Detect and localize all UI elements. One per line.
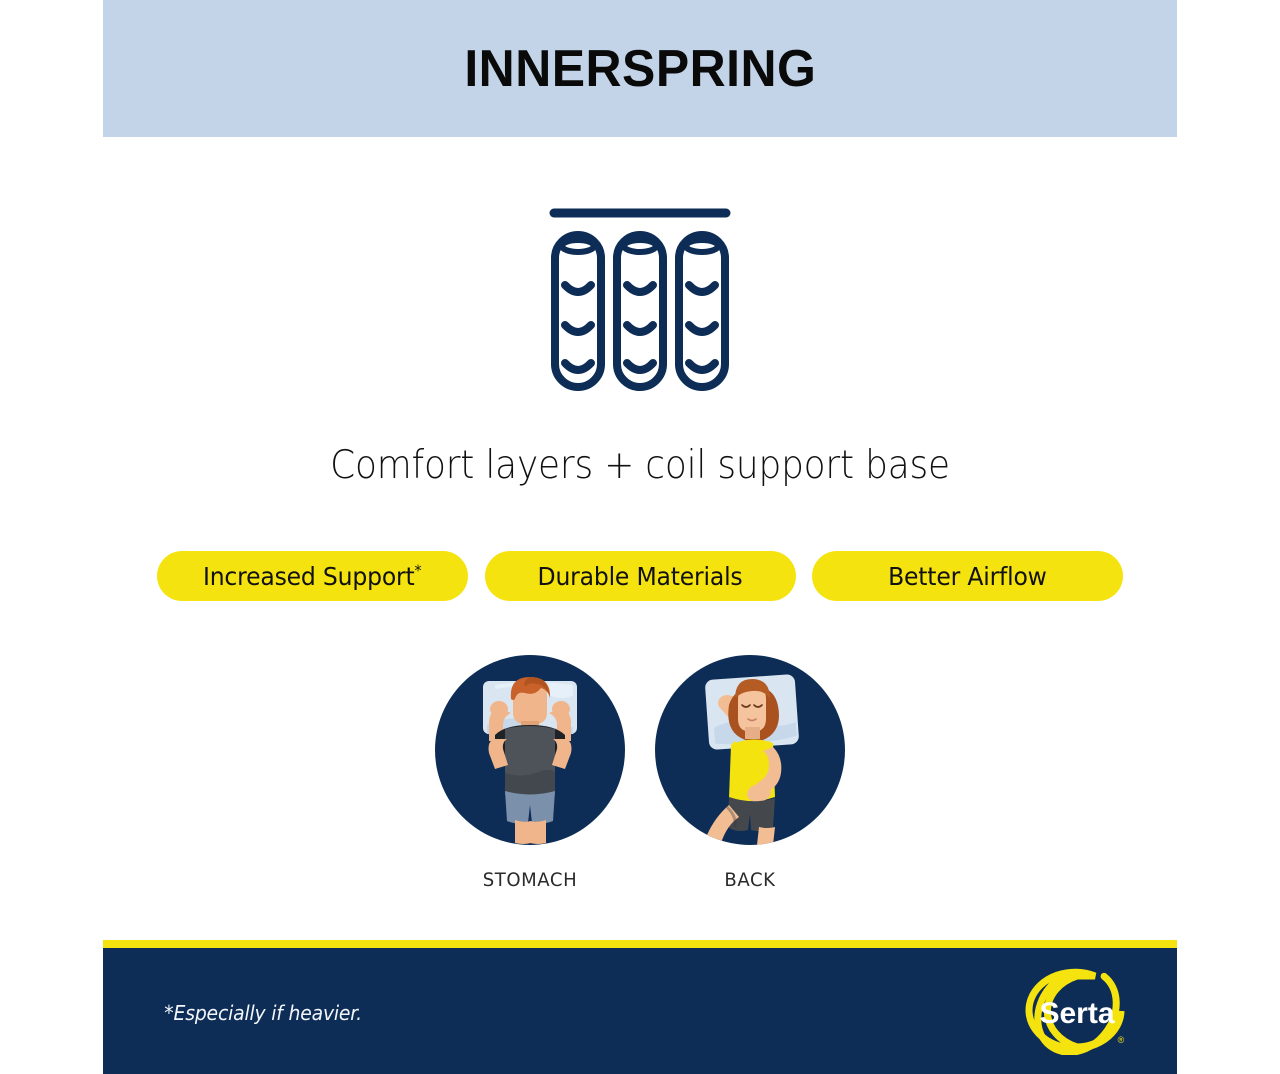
tagline: Comfort layers + coil support base xyxy=(146,443,1134,488)
feature-pill-label: Durable Materials xyxy=(538,562,743,591)
coil-springs-icon xyxy=(540,200,740,400)
feature-pill-durable-materials[interactable]: Durable Materials xyxy=(485,551,796,601)
footnote-text: *Especially if heavier. xyxy=(164,1001,362,1025)
feature-pill-better-airflow[interactable]: Better Airflow xyxy=(812,551,1123,601)
infographic-card: INNERSPRING xyxy=(103,0,1177,1074)
serta-logo: Serta ® xyxy=(1025,967,1129,1055)
back-sleeper-illustration xyxy=(655,655,845,845)
stomach-sleeper-illustration xyxy=(435,655,625,845)
header-band: INNERSPRING xyxy=(103,0,1177,137)
page-title: INNERSPRING xyxy=(464,43,816,95)
registered-mark-icon: ® xyxy=(1118,1035,1125,1045)
sleep-position-label-stomach: STOMACH xyxy=(440,869,621,891)
sleep-position-stomach[interactable]: STOMACH xyxy=(435,655,625,891)
footer: *Especially if heavier. Serta ® xyxy=(103,948,1177,1074)
sleep-position-group: STOMACH xyxy=(103,655,1177,915)
sleep-position-label-back: BACK xyxy=(660,869,841,891)
feature-pill-row: Increased Support* Durable Materials Bet… xyxy=(157,551,1123,601)
feature-pill-label: Increased Support* xyxy=(203,562,421,591)
innerspring-mattress-infographic: INNERSPRING xyxy=(0,0,1280,1074)
serta-wordmark: Serta xyxy=(1039,997,1114,1030)
feature-pill-label: Better Airflow xyxy=(888,562,1047,591)
feature-pill-increased-support[interactable]: Increased Support* xyxy=(157,551,468,601)
footer-accent-stripe xyxy=(103,940,1177,948)
footnote-marker: * xyxy=(415,561,422,579)
sleep-position-back[interactable]: BACK xyxy=(655,655,845,891)
